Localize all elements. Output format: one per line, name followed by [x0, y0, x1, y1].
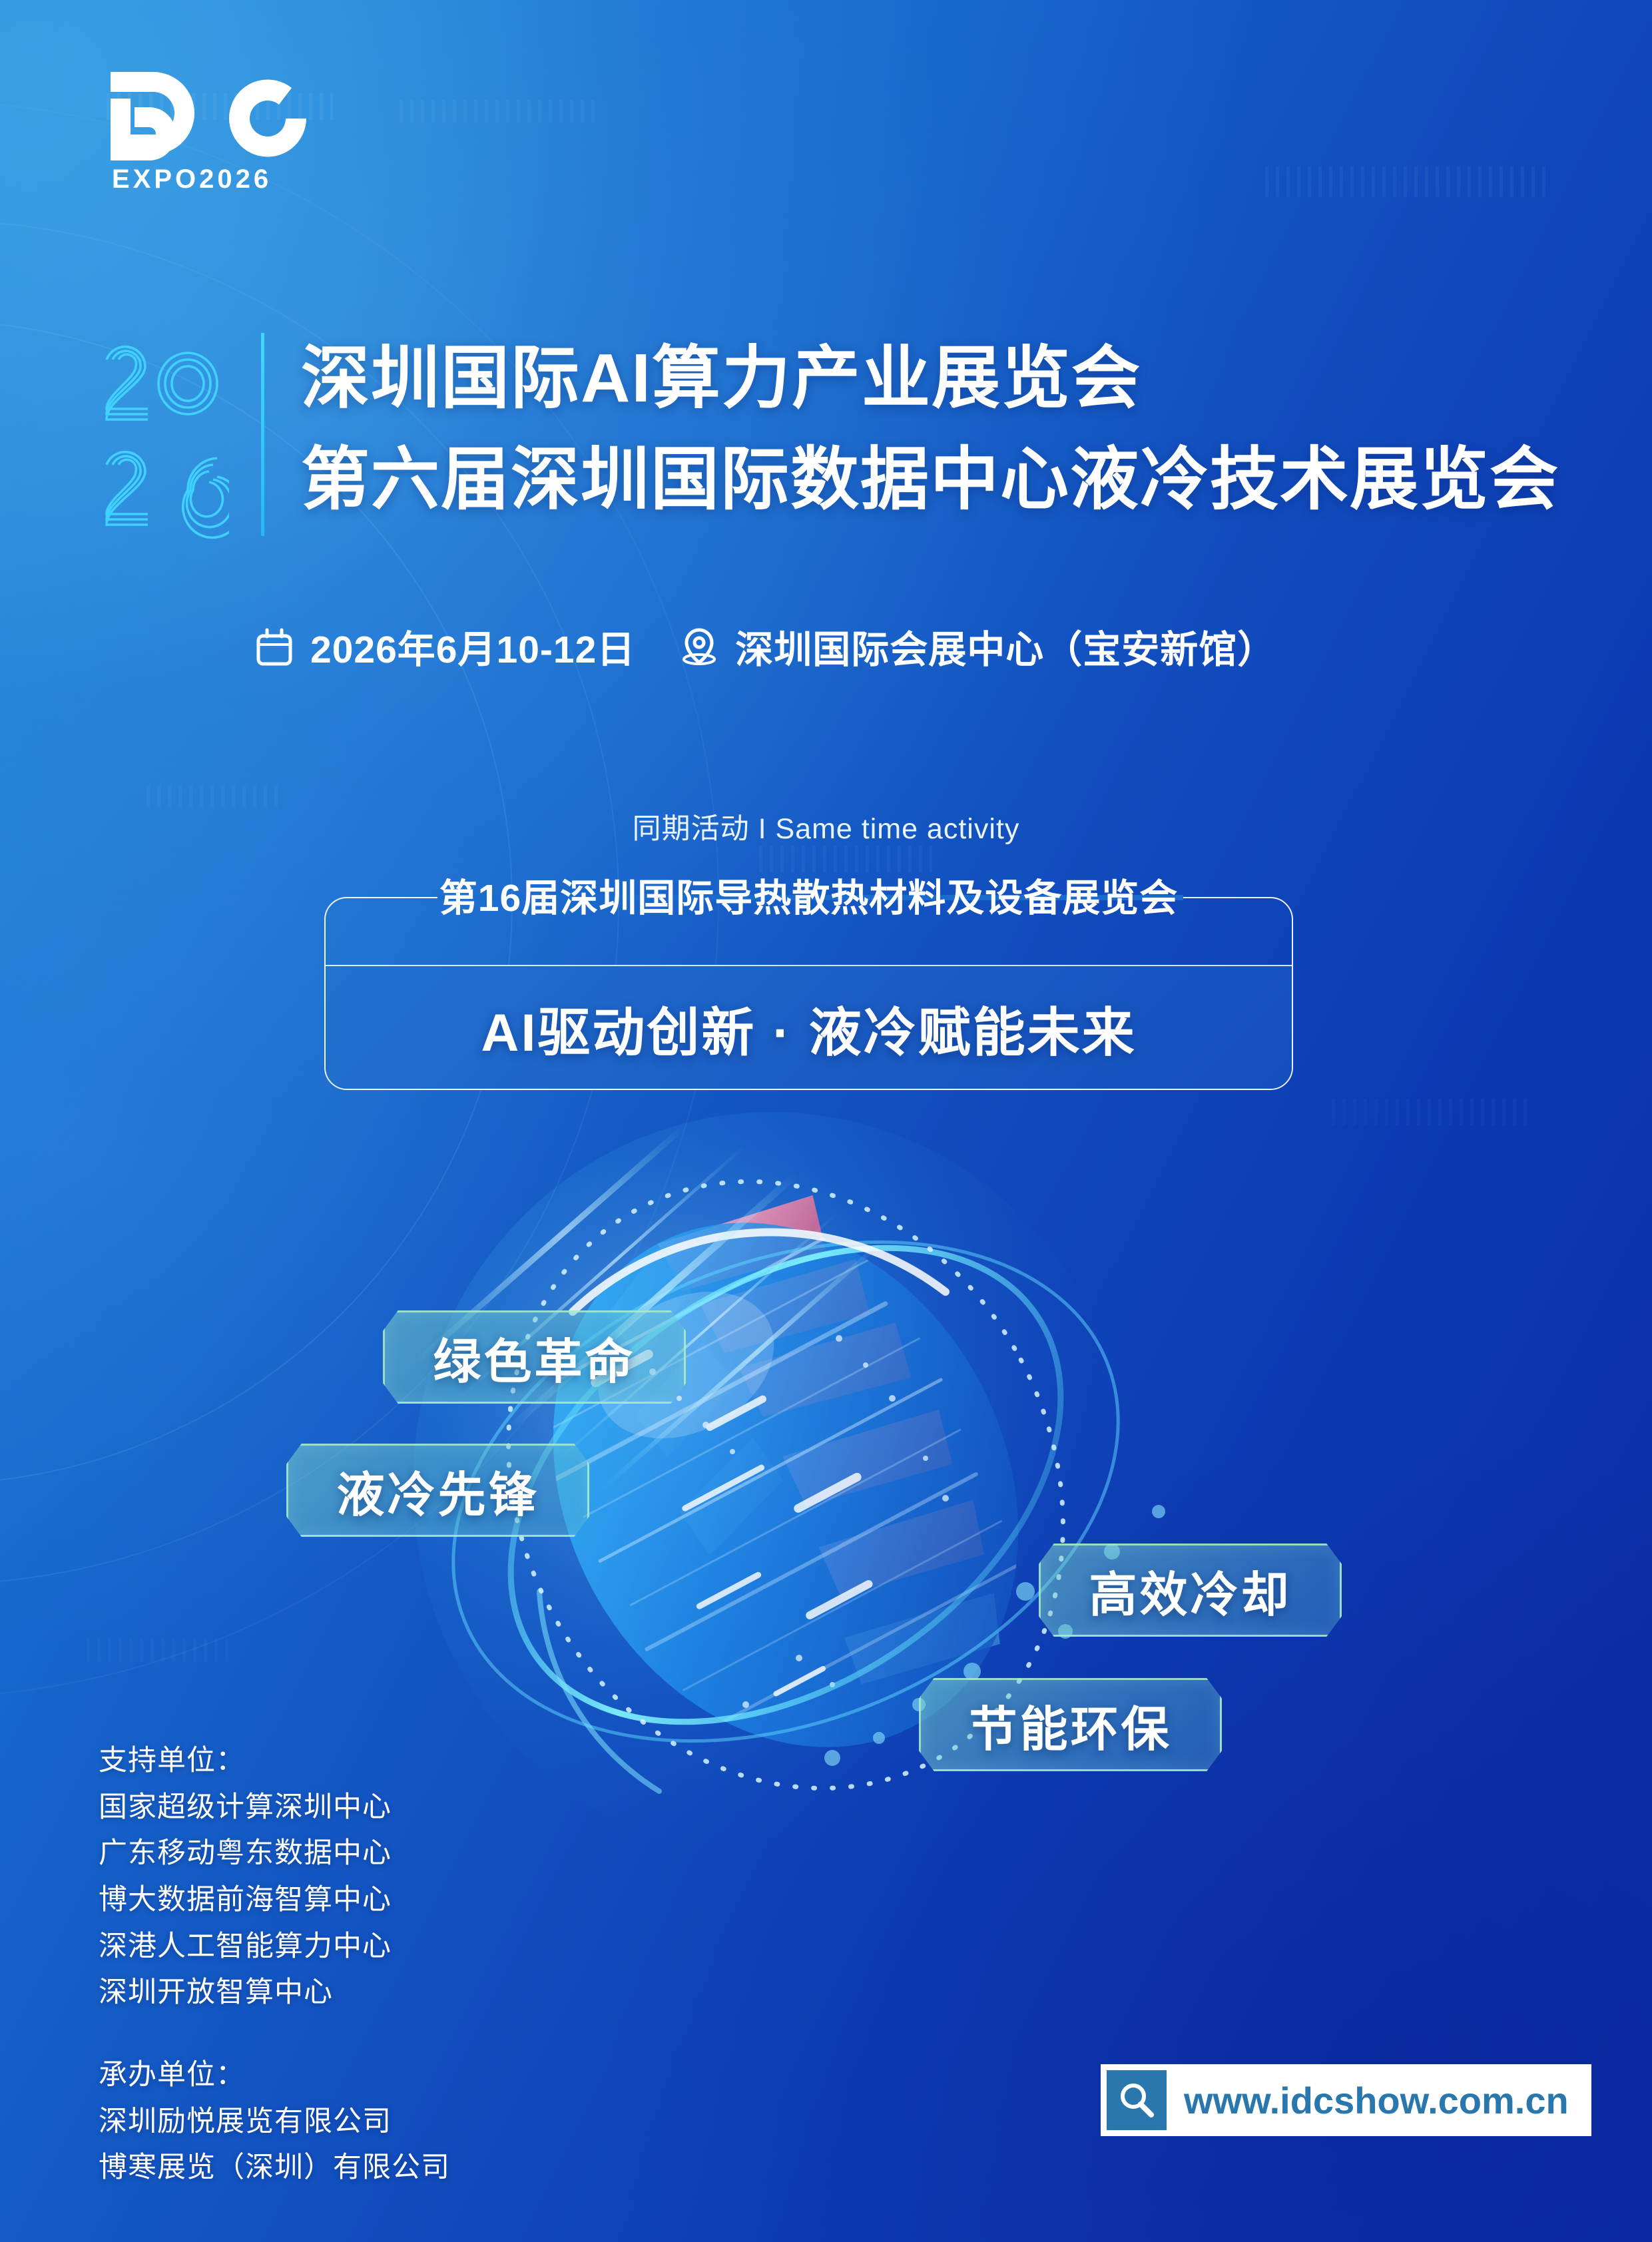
calendar-icon: [254, 627, 294, 667]
organizer-unit-item: 深圳励悦展览有限公司: [99, 2099, 450, 2145]
search-icon-box: [1107, 2070, 1167, 2130]
year-2026-mark: [99, 328, 229, 541]
event-venue-text: 深圳国际会展中心（宝安新馆）: [735, 619, 1276, 674]
title-block: 深圳国际AI算力产业展览会 第六届深圳国际数据中心液冷技术展览会: [301, 328, 1566, 531]
event-meta-row: 2026年6月10-12日 深圳国际会展中心（宝安新馆）: [254, 619, 1276, 674]
background-bar-pattern: [1332, 1099, 1531, 1125]
background-bar-pattern: [1265, 166, 1551, 197]
idc-expo-logo: EXPO2026: [99, 57, 325, 190]
credits-block: 支持单位： 国家超级计算深圳中心 广东移动粤东数据中心 博大数据前海智算中心 深…: [99, 1738, 450, 2191]
event-date: 2026年6月10-12日: [254, 619, 635, 674]
search-icon: [1116, 2080, 1157, 2121]
feature-tag-energy-saving[interactable]: 节能环保: [919, 1678, 1222, 1771]
same-time-subtitle: 第16届深圳国际导热散热材料及设备展览会: [324, 868, 1293, 922]
same-time-activity-block: 第16届深圳国际导热散热材料及设备展览会 AI驱动创新 · 液冷赋能未来: [324, 897, 1293, 1090]
website-badge[interactable]: www.idcshow.com.cn: [1101, 2064, 1591, 2136]
website-url[interactable]: www.idcshow.com.cn: [1167, 2070, 1569, 2130]
support-units-heading: 支持单位：: [99, 1738, 450, 1785]
logo-subtext: EXPO2026: [112, 164, 272, 190]
background-bar-pattern: [400, 100, 599, 123]
background-bar-pattern: [146, 786, 280, 807]
background-bar-pattern: [87, 1638, 233, 1662]
slogan-panel: AI驱动创新 · 液冷赋能未来: [326, 966, 1292, 1089]
location-pin-icon: [679, 626, 719, 667]
support-unit-item: 广东移动粤东数据中心: [99, 1830, 450, 1877]
organizer-unit-item: 博寒展览（深圳）有限公司: [99, 2145, 450, 2191]
event-venue: 深圳国际会展中心（宝安新馆）: [679, 619, 1276, 674]
support-units-group: 支持单位： 国家超级计算深圳中心 广东移动粤东数据中心 博大数据前海智算中心 深…: [99, 1738, 450, 2016]
event-date-text: 2026年6月10-12日: [310, 619, 635, 674]
feature-tag-green-revolution[interactable]: 绿色革命: [383, 1310, 686, 1404]
support-unit-item: 深圳开放智算中心: [99, 1970, 450, 2016]
page-title-primary: 深圳国际AI算力产业展览会: [301, 328, 1566, 429]
poster-root: EXPO2026: [0, 0, 1652, 2242]
support-unit-item: 国家超级计算深圳中心: [99, 1785, 450, 1831]
feature-tag-efficient-cooling[interactable]: 高效冷却: [1039, 1543, 1342, 1637]
title-accent-rule: [261, 333, 264, 536]
support-unit-item: 深港人工智能算力中心: [99, 1924, 450, 1970]
event-slogan: AI驱动创新 · 液冷赋能未来: [481, 989, 1136, 1066]
organizer-units-heading: 承办单位：: [99, 2052, 450, 2099]
support-unit-item: 博大数据前海智算中心: [99, 1877, 450, 1924]
page-title-secondary: 第六届深圳国际数据中心液冷技术展览会: [301, 429, 1566, 530]
feature-tag-liquid-cooling-pioneer[interactable]: 液冷先锋: [286, 1444, 589, 1537]
same-time-label: 同期活动 I Same time activity: [0, 806, 1652, 847]
organizer-units-group: 承办单位： 深圳励悦展览有限公司 博寒展览（深圳）有限公司: [99, 2052, 450, 2191]
